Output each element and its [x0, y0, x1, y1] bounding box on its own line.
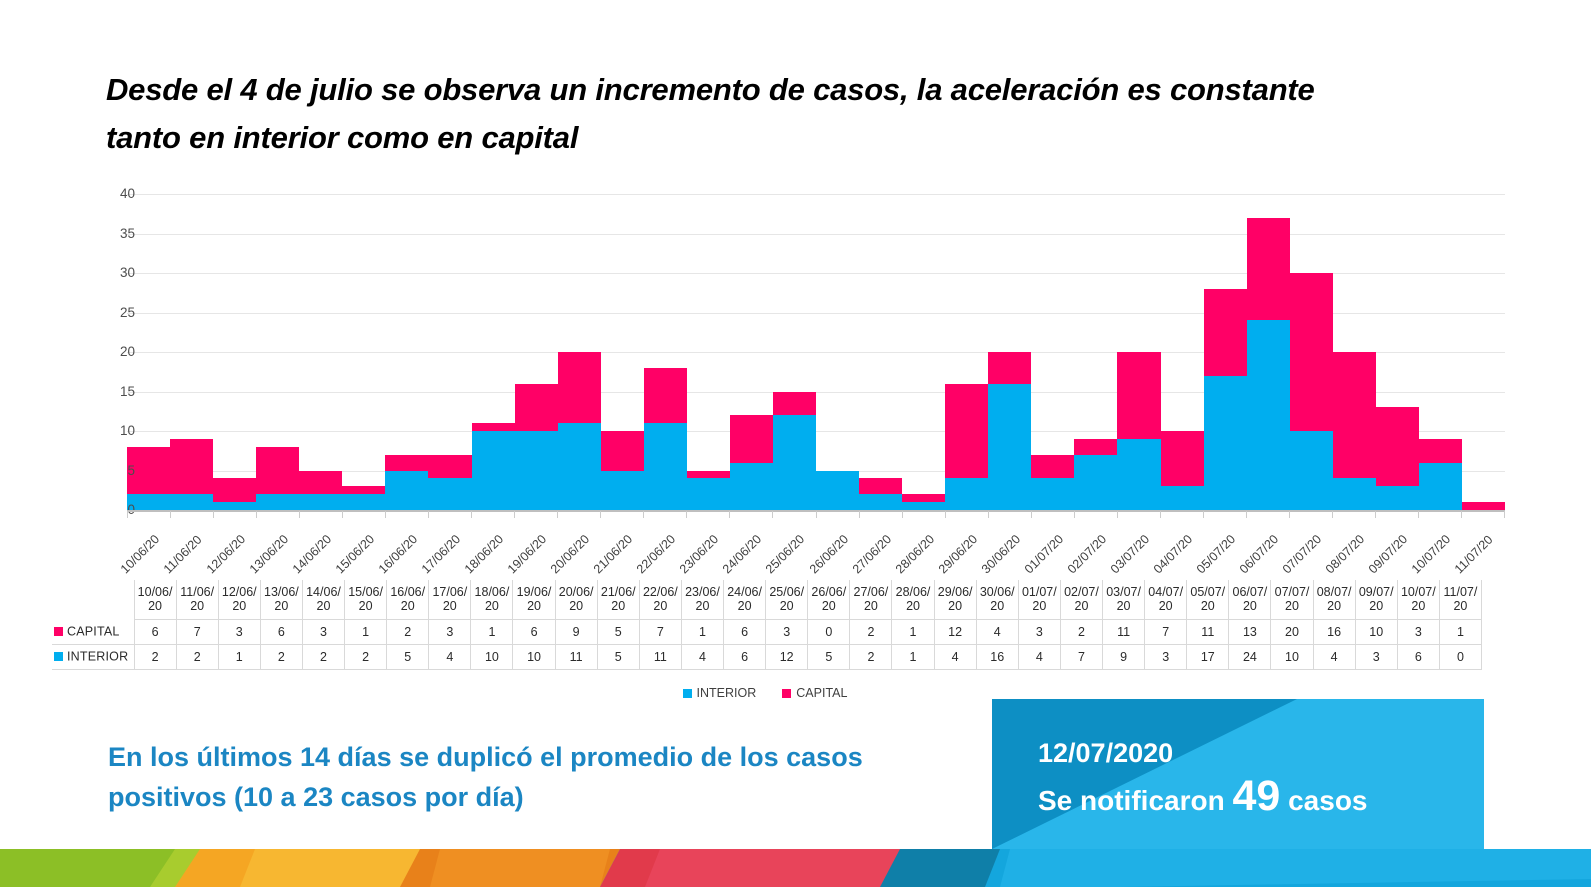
y-axis-tick-label: 30: [101, 265, 135, 280]
x-axis-tick: [557, 511, 600, 518]
x-axis-tick: [945, 511, 988, 518]
bar-segment-capital: [730, 415, 773, 462]
y-axis-tick-label: 35: [101, 226, 135, 241]
chart-legend: INTERIORCAPITAL: [0, 686, 1530, 700]
table-column-header: 15/06/20: [345, 580, 387, 619]
bar-column: [730, 194, 773, 510]
bar-segment-interior: [558, 423, 601, 510]
table-row: INTERIOR22122254101011511461252141647931…: [52, 644, 1482, 669]
bar-column: [945, 194, 988, 510]
table-cell: 0: [808, 619, 850, 644]
table-column-header: 20/06/20: [555, 580, 597, 619]
bar-segment-interior: [515, 431, 558, 510]
x-axis-label: 19/06/20: [515, 520, 558, 586]
table-cell: 5: [808, 644, 850, 669]
series-color-swatch-icon: [54, 652, 63, 661]
card-suffix: casos: [1288, 785, 1367, 816]
bar-column: [1419, 194, 1462, 510]
x-axis-label: 15/06/20: [342, 520, 385, 586]
table-cell: 2: [134, 644, 176, 669]
bar-column: [1290, 194, 1333, 510]
x-axis-label: 24/06/20: [730, 520, 773, 586]
bar-column: [256, 194, 299, 510]
x-axis-label: 10/07/20: [1419, 520, 1462, 586]
bar-column: [1462, 194, 1505, 510]
x-axis-tick: [385, 511, 428, 518]
chart-plot-area: [127, 194, 1505, 510]
bar-segment-capital: [342, 486, 385, 494]
bar-segment-capital: [1204, 289, 1247, 376]
bar-segment-interior: [644, 423, 687, 510]
table-cell: 3: [218, 619, 260, 644]
bar-segment-capital: [859, 478, 902, 494]
table-cell: 10: [513, 644, 555, 669]
bar-column: [816, 194, 859, 510]
x-axis-tick: [127, 511, 170, 518]
data-table: 10/06/2011/06/2012/06/2013/06/2014/06/20…: [52, 580, 1482, 670]
bar-segment-interior: [1031, 478, 1074, 510]
table-cell: 11: [555, 644, 597, 669]
table-cell: 12: [934, 619, 976, 644]
bar-segment-capital: [687, 471, 730, 479]
x-axis-tick: [170, 511, 213, 518]
chart-x-ticks: [127, 511, 1505, 518]
bar-column: [773, 194, 816, 510]
table-column-header: 02/07/20: [1060, 580, 1102, 619]
table-column-header: 11/06/20: [176, 580, 218, 619]
table-header: 10/06/2011/06/2012/06/2013/06/2014/06/20…: [52, 580, 1482, 619]
x-axis-tick: [859, 511, 902, 518]
table-cell: 2: [302, 644, 344, 669]
bar-column: [385, 194, 428, 510]
table-cell: 4: [976, 619, 1018, 644]
x-axis-tick: [213, 511, 256, 518]
bar-column: [1247, 194, 1290, 510]
table-column-header: 18/06/20: [471, 580, 513, 619]
table-cell: 4: [1018, 644, 1060, 669]
x-axis-tick: [816, 511, 859, 518]
table-header-row: 10/06/2011/06/2012/06/2013/06/2014/06/20…: [52, 580, 1482, 619]
bar-segment-interior: [170, 494, 213, 510]
x-axis-tick: [988, 511, 1031, 518]
table-cell: 2: [850, 644, 892, 669]
summary-card: 12/07/2020 Se notificaron 49 casos: [992, 699, 1484, 849]
x-axis-tick: [1375, 511, 1418, 518]
y-axis-tick-label: 5: [101, 463, 135, 478]
bar-segment-interior: [1333, 478, 1376, 510]
bar-segment-interior: [1376, 486, 1419, 510]
table-cell: 3: [429, 619, 471, 644]
x-axis-label: 18/06/20: [472, 520, 515, 586]
bar-column: [213, 194, 256, 510]
x-axis-tick: [1418, 511, 1461, 518]
legend-label: CAPITAL: [796, 686, 847, 700]
x-axis-label: 17/06/20: [428, 520, 471, 586]
table-cell: 6: [724, 619, 766, 644]
bar-segment-interior: [1117, 439, 1160, 510]
table-corner-cell: [52, 580, 134, 619]
bar-segment-capital: [558, 352, 601, 423]
bar-column: [644, 194, 687, 510]
y-axis-tick-label: 25: [101, 305, 135, 320]
table-column-header: 25/06/20: [766, 580, 808, 619]
table-column-header: 23/06/20: [681, 580, 723, 619]
table-cell: 1: [892, 619, 934, 644]
bar-segment-capital: [644, 368, 687, 423]
table-cell: 10: [1271, 644, 1313, 669]
table-cell: 6: [134, 619, 176, 644]
legend-item: INTERIOR: [683, 686, 757, 700]
table-cell: 3: [1397, 619, 1439, 644]
x-axis-tick: [514, 511, 557, 518]
bar-segment-capital: [515, 384, 558, 431]
x-axis-label: 25/06/20: [773, 520, 816, 586]
bar-column: [472, 194, 515, 510]
bar-segment-interior: [1419, 463, 1462, 510]
table-column-header: 01/07/20: [1018, 580, 1060, 619]
chart-x-axis-labels: 10/06/2011/06/2012/06/2013/06/2014/06/20…: [127, 520, 1505, 586]
bar-column: [687, 194, 730, 510]
bar-segment-capital: [170, 439, 213, 494]
table-column-header: 10/06/20: [134, 580, 176, 619]
table-cell: 12: [766, 644, 808, 669]
table-column-header: 08/07/20: [1313, 580, 1355, 619]
bar-segment-capital: [1031, 455, 1074, 479]
bar-column: [299, 194, 342, 510]
table-cell: 2: [176, 644, 218, 669]
table-cell: 4: [934, 644, 976, 669]
bar-column: [1031, 194, 1074, 510]
series-color-swatch-icon: [54, 627, 63, 636]
table-cell: 6: [260, 619, 302, 644]
legend-color-swatch-icon: [782, 689, 791, 698]
table-column-header: 06/07/20: [1229, 580, 1271, 619]
x-axis-label: 11/07/20: [1462, 520, 1505, 586]
table-cell: 4: [1313, 644, 1355, 669]
x-axis-label: 03/07/20: [1117, 520, 1160, 586]
table-cell: 6: [513, 619, 555, 644]
bar-segment-capital: [1074, 439, 1117, 455]
bar-segment-capital: [773, 392, 816, 416]
bar-column: [1376, 194, 1419, 510]
bar-segment-interior: [687, 478, 730, 510]
x-axis-tick: [729, 511, 772, 518]
table-cell: 3: [766, 619, 808, 644]
table-cell: 4: [681, 644, 723, 669]
legend-item: CAPITAL: [782, 686, 847, 700]
table-cell: 1: [1439, 619, 1481, 644]
bar-column: [428, 194, 471, 510]
table-cell: 7: [1060, 644, 1102, 669]
table-cell: 0: [1439, 644, 1481, 669]
bar-column: [342, 194, 385, 510]
bar-segment-capital: [1376, 407, 1419, 486]
x-axis-tick: [1332, 511, 1375, 518]
x-axis-label: 05/07/20: [1204, 520, 1247, 586]
bar-segment-capital: [1333, 352, 1376, 478]
x-axis-label: 29/06/20: [945, 520, 988, 586]
bar-segment-capital: [1117, 352, 1160, 439]
table-cell: 7: [1145, 619, 1187, 644]
slide: Desde el 4 de julio se observa un increm…: [0, 0, 1591, 887]
table-row-label: INTERIOR: [67, 650, 128, 664]
bar-segment-capital: [601, 431, 644, 471]
table-cell: 2: [1060, 619, 1102, 644]
table-column-header: 12/06/20: [218, 580, 260, 619]
bar-column: [1204, 194, 1247, 510]
bar-segment-interior: [1161, 486, 1204, 510]
bar-segment-capital: [299, 471, 342, 495]
table-cell: 9: [555, 619, 597, 644]
table-row-label: CAPITAL: [67, 625, 120, 639]
x-axis-label: 01/07/20: [1031, 520, 1074, 586]
card-date: 12/07/2020: [1038, 737, 1368, 770]
table-cell: 20: [1271, 619, 1313, 644]
table-column-header: 10/07/20: [1397, 580, 1439, 619]
bar-segment-capital: [213, 478, 256, 502]
table-cell: 10: [1355, 619, 1397, 644]
bar-segment-interior: [1074, 455, 1117, 510]
table-column-header: 19/06/20: [513, 580, 555, 619]
table-cell: 2: [850, 619, 892, 644]
table-cell: 5: [597, 644, 639, 669]
table-cell: 1: [681, 619, 723, 644]
x-axis-label: 27/06/20: [859, 520, 902, 586]
table-cell: 3: [302, 619, 344, 644]
x-axis-tick: [1117, 511, 1160, 518]
bar-segment-capital: [1161, 431, 1204, 486]
card-summary-line: Se notificaron 49 casos: [1038, 770, 1368, 822]
x-axis-label: 22/06/20: [644, 520, 687, 586]
bar-segment-capital: [1419, 439, 1462, 463]
table-cell: 6: [724, 644, 766, 669]
card-text: 12/07/2020 Se notificaron 49 casos: [1038, 737, 1368, 822]
x-axis-tick: [1461, 511, 1505, 518]
table-cell: 11: [639, 644, 681, 669]
bar-segment-interior: [1247, 320, 1290, 510]
card-prefix: Se notificaron: [1038, 785, 1225, 816]
bar-segment-interior: [299, 494, 342, 510]
table-column-header: 16/06/20: [387, 580, 429, 619]
x-axis-label: 10/06/20: [127, 520, 170, 586]
bar-segment-interior: [213, 502, 256, 510]
table-cell: 5: [597, 619, 639, 644]
table-cell: 5: [387, 644, 429, 669]
x-axis-label: 20/06/20: [558, 520, 601, 586]
table-column-header: 30/06/20: [976, 580, 1018, 619]
table-cell: 11: [1187, 619, 1229, 644]
x-axis-label: 02/07/20: [1074, 520, 1117, 586]
bar-segment-interior: [945, 478, 988, 510]
table-cell: 1: [345, 619, 387, 644]
x-axis-label: 13/06/20: [256, 520, 299, 586]
bar-segment-interior: [385, 471, 428, 511]
bar-segment-capital: [988, 352, 1031, 384]
x-axis-label: 09/07/20: [1376, 520, 1419, 586]
bar-segment-capital: [1247, 218, 1290, 321]
table-cell: 3: [1355, 644, 1397, 669]
x-axis-tick: [1289, 511, 1332, 518]
table-cell: 7: [176, 619, 218, 644]
table-cell: 10: [471, 644, 513, 669]
table-cell: 2: [387, 619, 429, 644]
bar-segment-capital: [1462, 502, 1505, 510]
x-axis-tick: [600, 511, 643, 518]
bar-column: [170, 194, 213, 510]
x-axis-label: 12/06/20: [213, 520, 256, 586]
x-axis-tick: [1031, 511, 1074, 518]
x-axis-label: 04/07/20: [1161, 520, 1204, 586]
x-axis-tick: [643, 511, 686, 518]
x-axis-tick: [1074, 511, 1117, 518]
table-column-header: 05/07/20: [1187, 580, 1229, 619]
bar-segment-interior: [601, 471, 644, 511]
table-column-header: 27/06/20: [850, 580, 892, 619]
table-cell: 6: [1397, 644, 1439, 669]
bar-column: [1074, 194, 1117, 510]
bar-column: [902, 194, 945, 510]
legend-label: INTERIOR: [697, 686, 757, 700]
table-column-header: 17/06/20: [429, 580, 471, 619]
table-column-header: 07/07/20: [1271, 580, 1313, 619]
table-body: CAPITAL673631231695716302112432117111320…: [52, 619, 1482, 669]
x-axis-label: 06/07/20: [1247, 520, 1290, 586]
table-column-header: 13/06/20: [260, 580, 302, 619]
card-count: 49: [1232, 772, 1280, 820]
table-cell: 7: [639, 619, 681, 644]
bar-column: [1161, 194, 1204, 510]
x-axis-tick: [1203, 511, 1246, 518]
bar-segment-interior: [1204, 376, 1247, 510]
x-axis-label: 30/06/20: [988, 520, 1031, 586]
x-axis-label: 21/06/20: [601, 520, 644, 586]
y-axis-tick-label: 20: [101, 344, 135, 359]
x-axis-tick: [902, 511, 945, 518]
bar-segment-interior: [256, 494, 299, 510]
stacked-bar-chart: 0510152025303540 10/06/2011/06/2012/06/2…: [40, 180, 1530, 525]
decorative-bottom-band: [0, 849, 1591, 887]
table-column-header: 22/06/20: [639, 580, 681, 619]
x-axis-label: 08/07/20: [1333, 520, 1376, 586]
table-column-header: 14/06/20: [302, 580, 344, 619]
bar-segment-interior: [1290, 431, 1333, 510]
table-column-header: 09/07/20: [1355, 580, 1397, 619]
table-cell: 1: [471, 619, 513, 644]
legend-color-swatch-icon: [683, 689, 692, 698]
table-cell: 3: [1018, 619, 1060, 644]
x-axis-tick: [428, 511, 471, 518]
x-axis-tick: [256, 511, 299, 518]
y-axis-tick-label: 10: [101, 423, 135, 438]
table-row-header: INTERIOR: [52, 644, 134, 669]
bar-segment-interior: [773, 415, 816, 510]
x-axis-tick: [471, 511, 514, 518]
x-axis-label: 26/06/20: [816, 520, 859, 586]
x-axis-label: 23/06/20: [687, 520, 730, 586]
table-row-header: CAPITAL: [52, 619, 134, 644]
bar-segment-capital: [256, 447, 299, 494]
bar-segment-interior: [730, 463, 773, 510]
bar-column: [1117, 194, 1160, 510]
table-cell: 2: [260, 644, 302, 669]
table-cell: 4: [429, 644, 471, 669]
bar-segment-capital: [472, 423, 515, 431]
x-axis-label-text: 10/06/20: [117, 532, 161, 576]
table-cell: 16: [1313, 619, 1355, 644]
table-column-header: 11/07/20: [1439, 580, 1481, 619]
table-cell: 9: [1103, 644, 1145, 669]
bar-column: [601, 194, 644, 510]
bar-column: [988, 194, 1031, 510]
table-cell: 11: [1103, 619, 1145, 644]
x-axis-label: 07/07/20: [1290, 520, 1333, 586]
table-cell: 1: [892, 644, 934, 669]
x-axis-tick: [299, 511, 342, 518]
x-axis-tick: [1160, 511, 1203, 518]
table-cell: 13: [1229, 619, 1271, 644]
bar-column: [1333, 194, 1376, 510]
x-axis-label: 14/06/20: [299, 520, 342, 586]
bar-column: [515, 194, 558, 510]
bar-segment-interior: [988, 384, 1031, 510]
chart-bars: [127, 194, 1505, 510]
x-axis-tick: [772, 511, 815, 518]
bar-segment-interior: [859, 494, 902, 510]
x-axis-tick: [686, 511, 729, 518]
table-cell: 3: [1145, 644, 1187, 669]
table-cell: 17: [1187, 644, 1229, 669]
bar-segment-interior: [342, 494, 385, 510]
table-row: CAPITAL673631231695716302112432117111320…: [52, 619, 1482, 644]
table-cell: 2: [345, 644, 387, 669]
bar-segment-interior: [472, 431, 515, 510]
table-column-header: 03/07/20: [1103, 580, 1145, 619]
bar-column: [558, 194, 601, 510]
x-axis-label: 16/06/20: [385, 520, 428, 586]
x-axis-tick: [1246, 511, 1289, 518]
bar-segment-capital: [428, 455, 471, 479]
table-column-header: 04/07/20: [1145, 580, 1187, 619]
y-axis-tick-label: 15: [101, 384, 135, 399]
bar-segment-capital: [385, 455, 428, 471]
bar-segment-capital: [1290, 273, 1333, 431]
table-column-header: 29/06/20: [934, 580, 976, 619]
bar-segment-capital: [902, 494, 945, 502]
y-axis-tick-label: 40: [101, 186, 135, 201]
bar-segment-capital: [945, 384, 988, 479]
x-axis-label: 11/06/20: [170, 520, 213, 586]
page-title: Desde el 4 de julio se observa un increm…: [106, 66, 1396, 162]
table-column-header: 26/06/20: [808, 580, 850, 619]
bar-segment-interior: [816, 471, 859, 511]
bar-segment-interior: [902, 502, 945, 510]
table-column-header: 24/06/20: [724, 580, 766, 619]
x-axis-tick: [342, 511, 385, 518]
bar-column: [859, 194, 902, 510]
table-cell: 16: [976, 644, 1018, 669]
x-axis-label: 28/06/20: [902, 520, 945, 586]
footer-note: En los últimos 14 días se duplicó el pro…: [108, 738, 938, 818]
table-cell: 1: [218, 644, 260, 669]
table-column-header: 21/06/20: [597, 580, 639, 619]
table-column-header: 28/06/20: [892, 580, 934, 619]
table-cell: 24: [1229, 644, 1271, 669]
bar-segment-interior: [428, 478, 471, 510]
